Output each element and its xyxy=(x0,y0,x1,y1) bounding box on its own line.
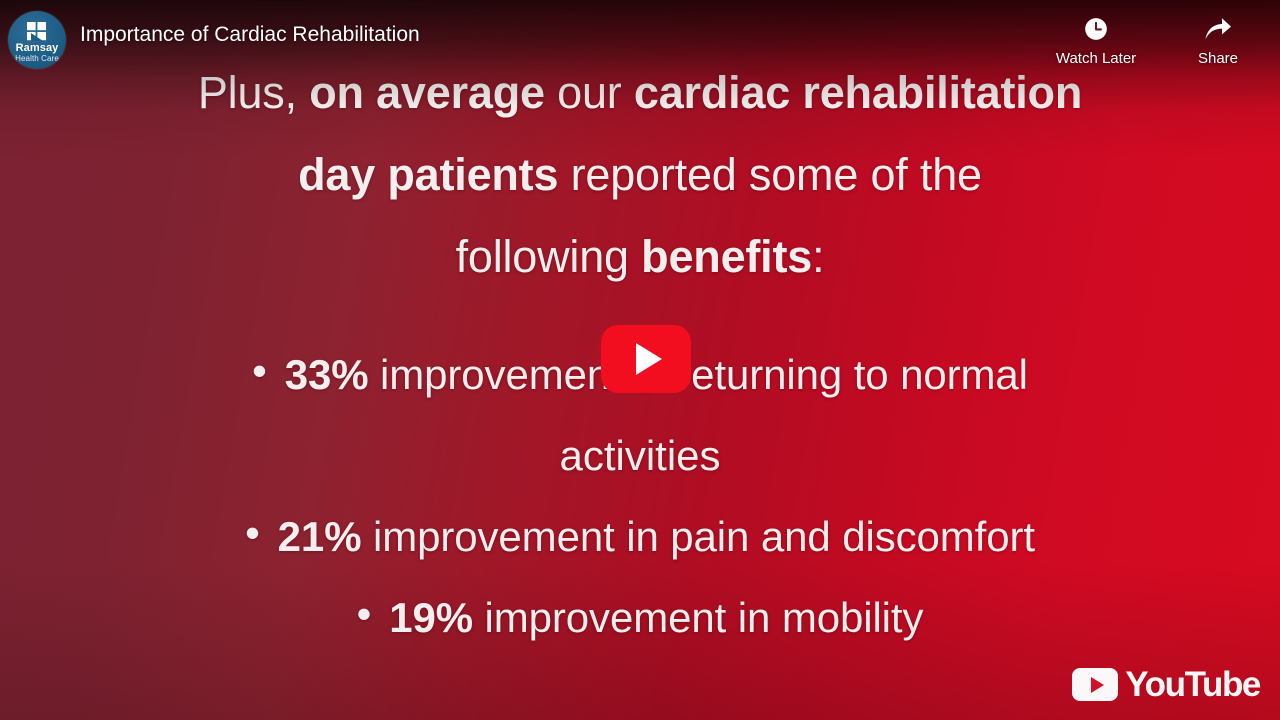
bullet-value-21: 21% xyxy=(278,513,362,560)
bullet-value-33: 33% xyxy=(285,351,369,398)
youtube-video-player[interactable]: Plus, on average our cardiac rehabilitat… xyxy=(0,0,1280,720)
share-label: Share xyxy=(1172,50,1264,67)
bullet-text-19: improvement in mobility xyxy=(473,594,923,641)
youtube-play-badge-icon xyxy=(1072,668,1118,701)
heading-text-our: our xyxy=(545,67,634,118)
play-button[interactable] xyxy=(601,325,691,393)
youtube-watermark[interactable]: YouTube xyxy=(1072,667,1260,702)
bullet-text-33: improvement in returning to normal xyxy=(368,351,1027,398)
bullet-continuation-33: activities xyxy=(0,415,1280,496)
channel-avatar[interactable]: Ramsay Health Care xyxy=(8,11,66,69)
slide-heading-line-2: day patients reported some of the xyxy=(0,134,1280,216)
slide-heading-line-3: following benefits: xyxy=(0,216,1280,298)
heading-bold-cardiac-rehabilitation: cardiac rehabilitation xyxy=(634,67,1082,118)
top-actions: Watch Later Share xyxy=(1050,14,1264,67)
heading-text-colon: : xyxy=(812,231,824,282)
bullet-text-21: improvement in pain and discomfort xyxy=(361,513,1034,560)
clock-icon xyxy=(1050,14,1142,44)
list-item: •19% improvement in mobility xyxy=(0,577,1280,658)
heading-bold-day-patients: day patients xyxy=(298,149,558,200)
heading-bold-on-average: on average xyxy=(309,67,545,118)
list-item: •21% improvement in pain and discomfort xyxy=(0,496,1280,577)
bullet-marker-icon: • xyxy=(357,573,372,654)
heading-bold-benefits: benefits xyxy=(641,231,812,282)
watch-later-button[interactable]: Watch Later xyxy=(1050,14,1142,67)
share-button[interactable]: Share xyxy=(1172,14,1264,67)
youtube-wordmark: YouTube xyxy=(1125,667,1260,702)
channel-avatar-name: Ramsay xyxy=(8,42,66,54)
video-title[interactable]: Importance of Cardiac Rehabilitation xyxy=(80,22,1050,48)
heading-text-plain: Plus, xyxy=(198,67,309,118)
heading-text-following: following xyxy=(456,231,642,282)
channel-avatar-subtitle: Health Care xyxy=(8,54,66,63)
share-arrow-icon xyxy=(1172,14,1264,44)
watermark-triangle-icon xyxy=(1091,677,1104,693)
bullet-marker-icon: • xyxy=(252,330,267,411)
player-top-bar: Ramsay Health Care Importance of Cardiac… xyxy=(0,0,1280,70)
bullet-marker-icon: • xyxy=(245,492,260,573)
bullet-value-19: 19% xyxy=(389,594,473,641)
ramsay-window-logo-icon xyxy=(27,22,47,41)
play-triangle-icon xyxy=(636,343,662,375)
watch-later-label: Watch Later xyxy=(1050,50,1142,67)
heading-text-reported: reported some of the xyxy=(558,149,982,200)
